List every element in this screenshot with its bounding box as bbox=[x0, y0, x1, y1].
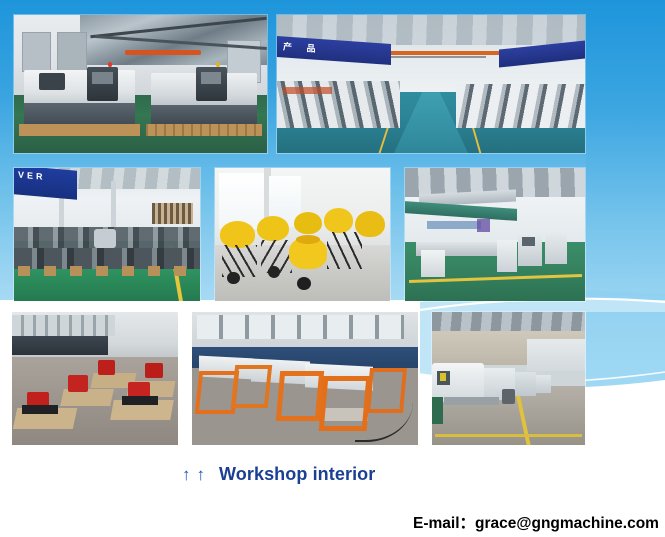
contact-email[interactable]: E-mail：grace@gngmachine.com bbox=[413, 511, 659, 533]
workshop-caption: ↑ ↑ Workshop interior bbox=[182, 464, 375, 485]
photo-assembly-hall-rows[interactable]: 产 品 bbox=[277, 15, 585, 153]
slide-canvas: 产 品 VER bbox=[0, 0, 665, 537]
background-blue-right-column bbox=[586, 0, 665, 392]
photo-cnc-aisle[interactable] bbox=[432, 312, 585, 445]
photo-grey-machines-green-floor[interactable]: VER bbox=[14, 168, 200, 301]
photo-yellow-concrete-mixers[interactable] bbox=[215, 168, 390, 301]
photo-assembly-line-canopy[interactable] bbox=[405, 168, 585, 301]
photo-cnc-lathes-crated[interactable] bbox=[14, 15, 267, 153]
caption-label: Workshop interior bbox=[219, 464, 375, 485]
photo-red-machines-pallets[interactable] bbox=[12, 312, 178, 445]
up-arrow-icon-1: ↑ bbox=[182, 466, 191, 483]
up-arrow-icon-2: ↑ bbox=[197, 466, 206, 483]
background-white-divider bbox=[0, 300, 665, 312]
photo-orange-planers[interactable] bbox=[192, 312, 418, 445]
